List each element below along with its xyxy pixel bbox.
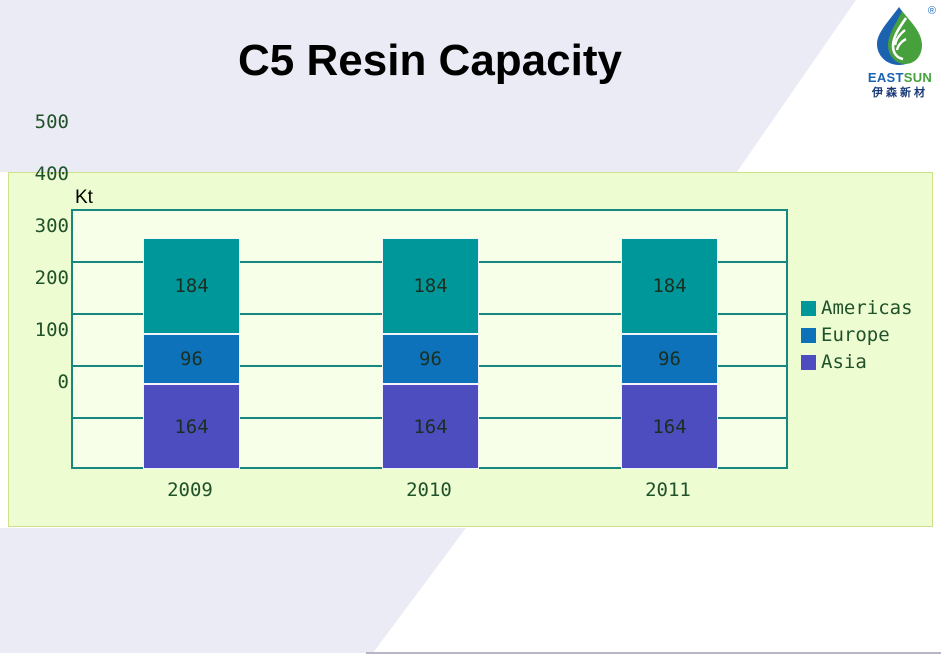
bar-value-2009-europe: 96 (180, 348, 203, 370)
bar-2011-asia[interactable]: 164 (621, 384, 718, 469)
x-axis-tick-2010: 2010 (369, 479, 489, 501)
bar-value-2010-asia: 164 (413, 416, 447, 438)
legend-item-europe[interactable]: Europe (801, 322, 913, 349)
logo-wordmark: EASTSUN (862, 70, 938, 85)
legend-swatch-americas (801, 301, 816, 316)
bar-2011-europe[interactable]: 96 (621, 334, 718, 384)
legend-label-americas: Americas (821, 299, 913, 318)
bar-value-2011-americas: 184 (652, 275, 686, 297)
chart-container: Kt 0 100 200 300 400 500 184 96 164 184 … (8, 172, 933, 527)
bar-2010-europe[interactable]: 96 (382, 334, 479, 384)
eastsun-logo: ® EASTSUN 伊森新材 (862, 4, 938, 100)
y-axis-tick-400: 400 (17, 163, 69, 185)
bar-2009-asia[interactable]: 164 (143, 384, 240, 469)
bar-value-2011-europe: 96 (658, 348, 681, 370)
axis-unit-label: Kt (75, 187, 93, 209)
logo-wordmark-east: EAST (868, 70, 904, 85)
legend-item-americas[interactable]: Americas (801, 295, 913, 322)
droplet-leaf-icon (872, 6, 928, 73)
footer-divider-line (366, 652, 941, 654)
plot-area: 184 96 164 184 96 164 184 96 164 (71, 209, 788, 469)
slide: C5 Resin Capacity ® EASTSUN 伊森新材 Kt 0 10… (0, 0, 941, 661)
background-footer-strip (0, 653, 941, 661)
x-axis-tick-2011: 2011 (608, 479, 728, 501)
chart-legend: Americas Europe Asia (801, 295, 913, 376)
bar-2009-europe[interactable]: 96 (143, 334, 240, 384)
bar-value-2011-asia: 164 (652, 416, 686, 438)
legend-swatch-asia (801, 355, 816, 370)
legend-item-asia[interactable]: Asia (801, 349, 913, 376)
bar-2009-americas[interactable]: 184 (143, 238, 240, 334)
legend-label-asia: Asia (821, 353, 867, 372)
y-axis-tick-300: 300 (17, 215, 69, 237)
y-axis-tick-0: 0 (17, 371, 69, 393)
bar-value-2009-asia: 164 (174, 416, 208, 438)
legend-swatch-europe (801, 328, 816, 343)
registered-trademark-icon: ® (928, 5, 936, 17)
bar-2010-americas[interactable]: 184 (382, 238, 479, 334)
y-axis-tick-500: 500 (17, 111, 69, 133)
bar-2011-americas[interactable]: 184 (621, 238, 718, 334)
y-axis-tick-200: 200 (17, 267, 69, 289)
y-axis-tick-100: 100 (17, 319, 69, 341)
bar-value-2010-europe: 96 (419, 348, 442, 370)
legend-label-europe: Europe (821, 326, 890, 345)
bar-2010-asia[interactable]: 164 (382, 384, 479, 469)
bar-value-2010-americas: 184 (413, 275, 447, 297)
logo-wordmark-sun: SUN (904, 70, 932, 85)
logo-chinese-name: 伊森新材 (862, 84, 938, 100)
page-title: C5 Resin Capacity (0, 36, 860, 86)
x-axis-tick-2009: 2009 (130, 479, 250, 501)
bar-value-2009-americas: 184 (174, 275, 208, 297)
